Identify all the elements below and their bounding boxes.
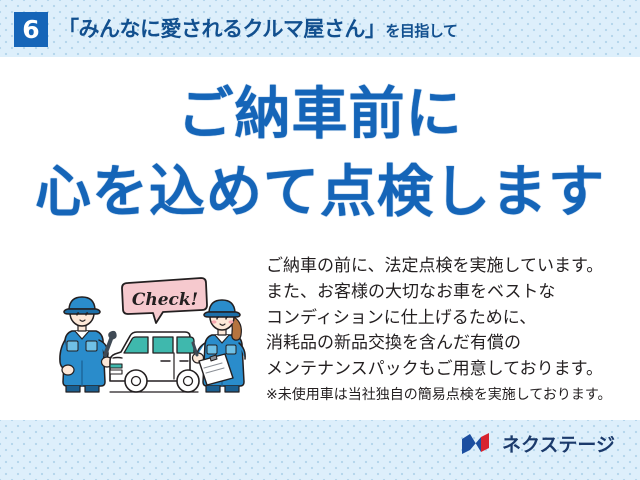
header-title: 「みんなに愛されるクルマ屋さん」 を目指して <box>58 13 457 47</box>
poster-background: 6 「みんなに愛されるクルマ屋さん」 を目指して ご納車前に 心を込めて点検しま… <box>0 0 640 480</box>
brand-logo: ネクステージ <box>461 430 615 457</box>
body-line-4: 消耗品の新品交換を含んだ有償の <box>266 331 626 357</box>
speech-bubble-label: Check! <box>132 290 198 310</box>
mechanics-illustration: Check! <box>58 269 263 409</box>
footer-bar: ネクステージ <box>0 420 640 480</box>
header-bar: 6 「みんなに愛されるクルマ屋さん」 を目指して <box>0 0 640 57</box>
white-van-icon <box>110 332 199 392</box>
female-mechanic-icon <box>193 300 246 392</box>
header-title-quoted: 「みんなに愛されるクルマ屋さん」 <box>58 13 385 43</box>
content-panel: ご納車前に 心を込めて点検します ご納車の前に、法定点検を実施しています。 また… <box>0 57 640 420</box>
illustration-svg: Check! <box>58 269 263 409</box>
headline-line-2: 心を込めて点検します <box>0 165 640 221</box>
body-note: ※未使用車は当社独自の簡易点検を実施しております。 <box>266 385 626 406</box>
header-title-suffix: を目指して <box>385 20 457 41</box>
body-line-3: コンディションに仕上げるために、 <box>266 306 626 332</box>
headline-line-1: ご納車前に <box>0 87 640 143</box>
section-number-badge: 6 <box>14 12 48 47</box>
body-line-5: メンテナンスパックもご用意しております。 <box>266 357 626 383</box>
nextage-n-logo-icon <box>461 432 495 456</box>
body-line-1: ご納車の前に、法定点検を実施しています。 <box>266 254 626 280</box>
body-line-2: また、お客様の大切なお車をベストな <box>266 280 626 306</box>
body-copy: ご納車の前に、法定点検を実施しています。 また、お客様の大切なお車をベストな コ… <box>266 254 626 406</box>
male-mechanic-icon <box>60 297 116 392</box>
brand-name: ネクステージ <box>502 430 615 457</box>
